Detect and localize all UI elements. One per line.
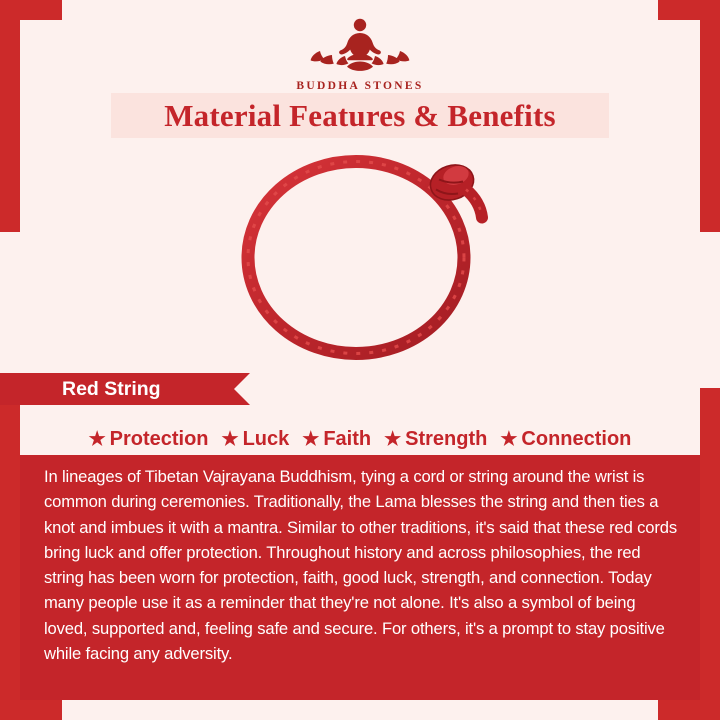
benefit-item-luck: ★ Luck — [222, 428, 290, 451]
benefit-item-protection: ★ Protection — [89, 428, 209, 451]
frame-corner-bottom-right — [658, 700, 720, 720]
frame-border-left-bottom — [0, 388, 20, 720]
red-braided-string-bracelet-icon — [220, 146, 500, 371]
frame-notch-left — [0, 232, 20, 388]
description-text: In lineages of Tibetan Vajrayana Buddhis… — [44, 464, 678, 666]
product-label: Red String — [62, 378, 161, 401]
star-icon: ★ — [302, 430, 319, 449]
infographic-page: BUDDHA STONES Material Features & Benefi… — [0, 0, 720, 720]
benefit-label: Protection — [110, 428, 209, 451]
product-label-tab: Red String — [0, 373, 234, 405]
lotus-meditation-icon — [0, 16, 720, 77]
benefit-item-strength: ★ Strength — [384, 428, 487, 451]
page-title: Material Features & Benefits — [164, 98, 556, 134]
product-image-area — [20, 138, 700, 378]
star-icon: ★ — [500, 430, 517, 449]
frame-notch-right — [700, 232, 720, 388]
brand-name: BUDDHA STONES — [0, 80, 720, 92]
benefit-item-faith: ★ Faith — [302, 428, 371, 451]
benefit-label: Connection — [521, 428, 631, 451]
description-panel: In lineages of Tibetan Vajrayana Buddhis… — [20, 455, 700, 700]
benefit-label: Luck — [243, 428, 290, 451]
benefits-list: ★ Protection ★ Luck ★ Faith ★ Strength ★… — [20, 420, 700, 458]
benefit-item-connection: ★ Connection — [500, 428, 631, 451]
benefit-label: Faith — [323, 428, 371, 451]
page-title-banner: Material Features & Benefits — [111, 93, 609, 138]
star-icon: ★ — [222, 430, 239, 449]
star-icon: ★ — [89, 430, 106, 449]
brand-logo: BUDDHA STONES — [0, 16, 720, 92]
benefit-label: Strength — [405, 428, 487, 451]
star-icon: ★ — [384, 430, 401, 449]
frame-border-right-bottom — [700, 388, 720, 720]
frame-top-gap — [20, 0, 700, 10]
frame-corner-bottom-left — [0, 700, 62, 720]
